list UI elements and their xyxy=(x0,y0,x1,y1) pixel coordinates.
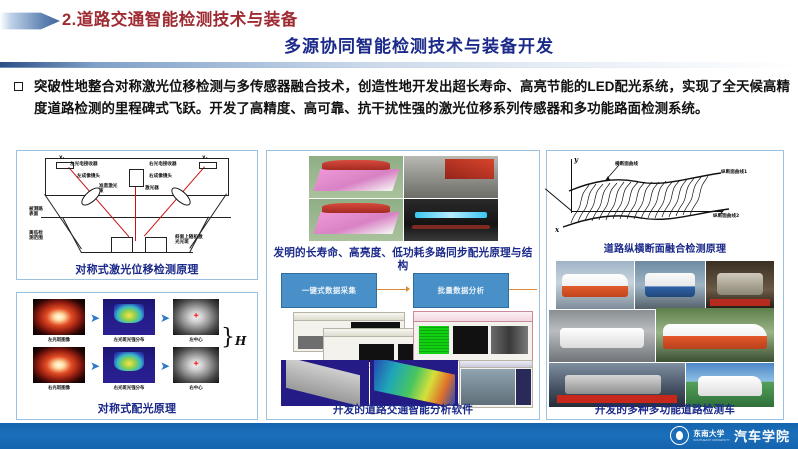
page-subtitle: 多源协同智能检测技术与装备开发 xyxy=(0,32,798,57)
road-surface-mesh xyxy=(286,360,360,406)
page-title: 2.道路交通智能检测技术与装备 xyxy=(62,6,298,30)
led-render-top xyxy=(309,156,403,198)
road-heatmap-view xyxy=(370,360,458,406)
output-symbol-h: H xyxy=(235,334,246,348)
vehicle-photo-6 xyxy=(549,363,685,407)
brace-icon: } xyxy=(221,327,235,349)
vehicle-photo-7 xyxy=(686,363,774,407)
vehicle-photo-1 xyxy=(556,261,634,309)
flow-arrow-icon-1 xyxy=(406,286,410,292)
panel-profile-and-vehicles[interactable]: y z x xyxy=(546,150,784,420)
vehicle-photo-4 xyxy=(549,310,655,362)
left-intensity-plot xyxy=(103,299,155,335)
center-marker-icon-2: ✚ xyxy=(194,363,199,368)
label-height-range: 离低检测范围 xyxy=(29,231,46,242)
center-marker-icon: ✚ xyxy=(194,315,199,320)
caption-light-distribution: 对称式配光原理 xyxy=(17,403,257,416)
caption-software: 开发的道路交通智能分析软件 xyxy=(267,404,539,417)
label-left-spot-image: 左光斑图像 xyxy=(33,337,85,343)
vehicle-photo-2 xyxy=(635,261,705,309)
vehicle-photo-3 xyxy=(706,261,774,309)
flow-box-data-collection[interactable]: 一键式数据采集 xyxy=(281,273,377,308)
led-render-bottom xyxy=(309,199,403,241)
software-window-4 xyxy=(459,360,533,408)
university-name-en: SOUTHEAST UNIVERSITY xyxy=(693,438,730,442)
footer-bar: 东南大学 SOUTHEAST UNIVERSITY 汽车学院 xyxy=(0,423,798,449)
label-x-right: X₂ xyxy=(202,156,208,161)
arrow-right-icon-1: ➤ xyxy=(90,313,100,323)
panel-laser-principle[interactable]: 左光电接收器 右光电接收器 左成像镜头 右成像镜头 激光器 准直激光束 被测路表… xyxy=(16,150,258,280)
label-collimated-beam: 准直激光束 xyxy=(99,184,119,195)
window-titlebar-4 xyxy=(460,361,532,368)
range-box-right xyxy=(145,237,167,253)
window-titlebar-3 xyxy=(414,312,532,322)
road-3d-view xyxy=(281,360,369,406)
label-random-spot: 斜面上随机激光光斑 xyxy=(175,235,205,246)
body-paragraph-block: 突破性地整合对称激光位移检测与多传感器融合技术，创造性地开发出超长寿命、高亮节能… xyxy=(12,76,790,119)
arrow-right-icon-3: ➤ xyxy=(90,361,100,371)
profile-diagram: y z x xyxy=(553,155,775,241)
right-intensity-plot xyxy=(103,347,155,383)
label-x-left: X₁ xyxy=(59,156,65,161)
footer-logo: 东南大学 SOUTHEAST UNIVERSITY 汽车学院 xyxy=(670,426,790,445)
label-right-intensity: 右光斑光强分布 xyxy=(103,385,155,391)
slide-header: 2.道路交通智能检测技术与装备 多源协同智能检测技术与装备开发 xyxy=(0,0,798,68)
window-titlebar-1 xyxy=(294,313,404,321)
left-center-image: ✚ xyxy=(173,299,219,335)
software-window-3 xyxy=(413,311,533,361)
label-measured-surface: 被测路表面 xyxy=(29,207,46,218)
right-receiver-icon xyxy=(199,162,217,169)
label-longitudinal-1: 纵断面曲线1 xyxy=(721,169,747,175)
laser-principle-diagram: 左光电接收器 右光电接收器 左成像镜头 右成像镜头 激光器 准直激光束 被测路表… xyxy=(23,155,249,259)
panel-led-and-software[interactable]: 发明的长寿命、高亮度、低功耗多路同步配光原理与结构 一键式数据采集 批量数据分析… xyxy=(266,150,540,420)
label-right-spot-image: 右光斑图像 xyxy=(33,385,85,391)
vehicle-photo-5 xyxy=(656,308,774,362)
label-left-intensity: 左光斑光强分布 xyxy=(103,337,155,343)
caption-profile-principle: 道路纵横断面融合检测原理 xyxy=(551,244,779,257)
profile-curves xyxy=(553,155,775,241)
label-right-lens: 右成像镜头 xyxy=(149,173,172,179)
label-longitudinal-2: 纵断面曲线2 xyxy=(713,213,739,219)
header-divider-thin xyxy=(0,67,798,68)
label-right-receiver: 右光电接收器 xyxy=(149,161,177,167)
arrow-right-icon-4: ➤ xyxy=(160,361,170,371)
traffic-camera-view xyxy=(461,369,514,405)
caption-vehicles: 开发的多种多功能道路检测车 xyxy=(547,404,783,417)
grid-view xyxy=(419,326,450,354)
square-bullet-icon xyxy=(14,82,23,91)
university-seal-icon xyxy=(670,426,689,445)
range-edge-left xyxy=(62,217,82,253)
arrow-right-icon-2: ➤ xyxy=(160,313,170,323)
range-bottom xyxy=(81,252,193,253)
laser-source-icon xyxy=(129,169,144,187)
right-center-image: ✚ xyxy=(173,347,219,383)
university-name-block: 东南大学 SOUTHEAST UNIVERSITY xyxy=(693,430,730,442)
label-left-center: 左中心 xyxy=(173,337,219,343)
panel-light-distribution[interactable]: ➤ ➤ ✚ 左光斑图像 左光斑光强分布 左中心 ➤ ➤ ✚ 右光斑图像 右光斑光… xyxy=(16,292,258,420)
header-arrow-icon xyxy=(0,8,60,34)
label-left-receiver: 左光电接收器 xyxy=(70,161,98,167)
label-left-lens: 左成像镜头 xyxy=(77,173,100,179)
caption-led-lighting: 发明的长寿命、高亮度、低功耗多路同步配光原理与结构 xyxy=(271,247,535,272)
window-canvas-4 xyxy=(453,326,488,354)
range-box-left xyxy=(111,237,133,253)
label-laser: 激光器 xyxy=(145,185,159,191)
window-canvas-5 xyxy=(491,326,529,354)
college-name: 汽车学院 xyxy=(734,426,790,445)
flow-connector-1 xyxy=(377,289,407,290)
window-thumb-1 xyxy=(298,336,322,349)
body-paragraph: 突破性地整合对称激光位移检测与多传感器融合技术，创造性地开发出超长寿命、高亮节能… xyxy=(34,76,790,119)
university-name-cn: 东南大学 xyxy=(693,430,730,438)
label-cross-section: 横断面曲线 xyxy=(615,161,638,167)
right-spot-image xyxy=(33,347,85,383)
caption-laser-principle: 对称式激光位移检测原理 xyxy=(17,264,257,277)
flow-connector-2 xyxy=(509,289,537,290)
led-field-photo-top xyxy=(404,156,498,198)
ground-line xyxy=(41,217,231,218)
laser-beam-center xyxy=(135,179,136,241)
led-field-photo-bottom xyxy=(404,199,498,241)
window-sidepanel xyxy=(516,369,530,405)
left-spot-image xyxy=(33,299,85,335)
label-right-center: 右中心 xyxy=(173,385,219,391)
road-heatmap xyxy=(374,360,455,406)
flow-box-data-analysis[interactable]: 批量数据分析 xyxy=(413,273,509,308)
